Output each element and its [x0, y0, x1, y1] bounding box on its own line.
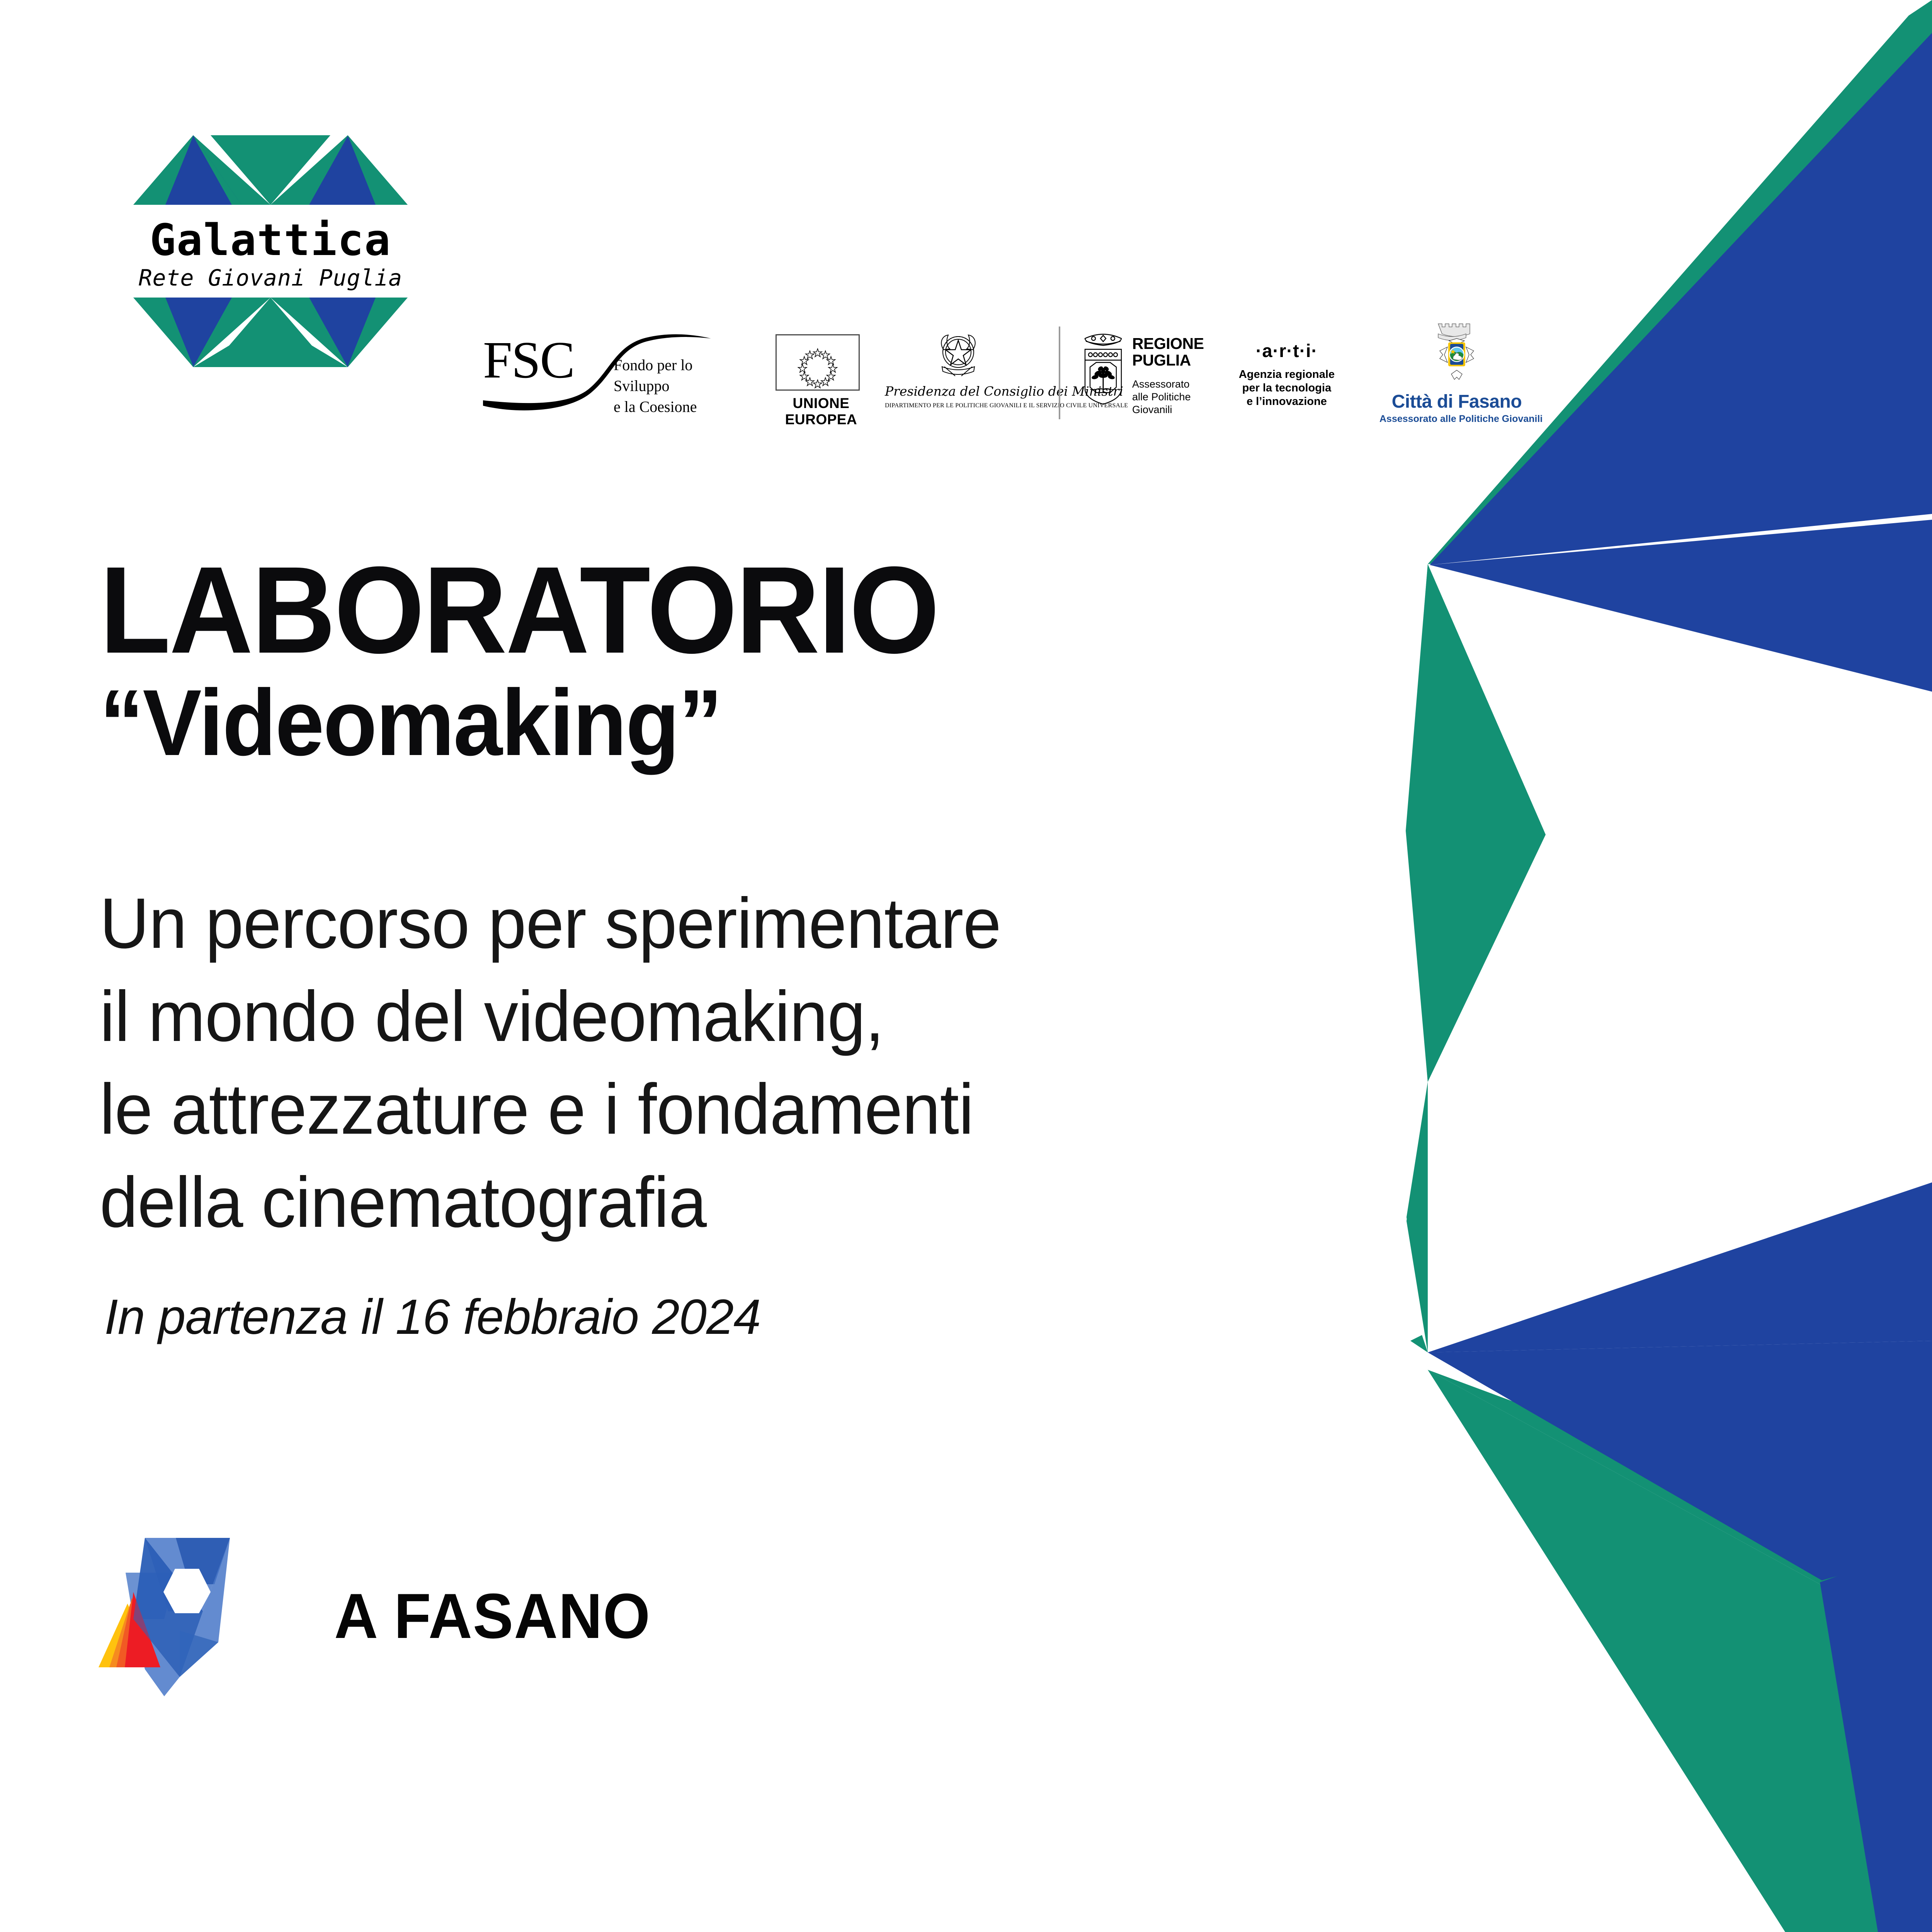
arti-sub-line3: e l’innovazione — [1229, 395, 1345, 408]
logo-european-union: UNIONE EUROPEA — [767, 334, 875, 419]
presidenza-title: Presidenza del Consiglio dei Ministri — [885, 384, 1032, 399]
arti-wordmark: ·a·r·t·i· — [1229, 340, 1345, 361]
fasano-hexagon-mark-icon — [87, 1515, 303, 1696]
start-date-text: In partenza il 16 febbraio 2024 — [104, 1289, 760, 1345]
description-block: Un percorso per sperimentare il mondo de… — [100, 877, 1213, 1249]
partner-logo-strip: Galattica Rete Giovani Puglia FSC Fondo … — [0, 116, 1546, 386]
galattica-tagline: Rete Giovani Puglia — [116, 267, 425, 289]
puglia-shield-icon — [1078, 328, 1128, 406]
regione-puglia-name-line2: PUGLIA — [1132, 352, 1204, 369]
logo-arti: ·a·r·t·i· Agenzia regionale per la tecno… — [1229, 340, 1345, 421]
republic-emblem-icon — [930, 327, 986, 383]
description-line-4: della cinematografia — [100, 1156, 1213, 1249]
headline-block: LABORATORIO “Videomaking” — [100, 553, 1336, 771]
regione-puglia-sub-line2: alle Politiche Giovanili — [1132, 391, 1206, 416]
logo-presidenza-consiglio: Presidenza del Consiglio dei Ministri DI… — [885, 327, 1032, 423]
logo-regione-puglia: REGIONE PUGLIA Assessorato alle Politich… — [1078, 328, 1206, 421]
eu-label: UNIONE EUROPEA — [767, 395, 875, 428]
description-line-3: le attrezzature e i fondamenti — [100, 1063, 1213, 1156]
description-line-2: il mondo del videomaking, — [100, 970, 1213, 1063]
headline-primary: LABORATORIO — [100, 553, 1262, 668]
description-line-1: Un percorso per sperimentare — [100, 877, 1213, 970]
fsc-subtitle-line1: Fondo per lo Sviluppo — [614, 355, 741, 396]
regione-puglia-name-line1: REGIONE — [1132, 335, 1204, 352]
brand-block: A FASANO — [87, 1515, 667, 1696]
regione-puglia-sub-line1: Assessorato — [1132, 378, 1206, 391]
eu-flag-icon — [776, 334, 860, 391]
citta-di-fasano-name: Città di Fasano — [1379, 391, 1534, 412]
fsc-subtitle-line2: e la Coesione — [614, 396, 741, 417]
arti-sub-line2: per la tecnologia — [1229, 381, 1345, 395]
headline-secondary: “Videomaking” — [100, 668, 1262, 771]
logo-galattica: Galattica Rete Giovani Puglia — [116, 128, 425, 375]
fasano-coat-of-arms-icon — [1429, 321, 1485, 390]
logo-citta-di-fasano: Città di Fasano Assessorato alle Politic… — [1379, 321, 1534, 425]
presidenza-department: DIPARTIMENTO PER LE POLITICHE GIOVANILI … — [885, 402, 1032, 409]
fsc-acronym: FSC — [483, 334, 574, 386]
regione-puglia-name: REGIONE PUGLIA — [1132, 335, 1204, 368]
galattica-wordmark: Galattica — [116, 219, 425, 262]
poster-canvas: Galattica Rete Giovani Puglia FSC Fondo … — [0, 0, 1932, 1932]
fsc-subtitle: Fondo per lo Sviluppo e la Coesione — [614, 355, 741, 417]
brand-label: A FASANO — [334, 1580, 651, 1653]
citta-di-fasano-subtitle: Assessorato alle Politiche Giovanili — [1379, 413, 1534, 425]
arti-sub-line1: Agenzia regionale — [1229, 368, 1345, 381]
arti-subtitle: Agenzia regionale per la tecnologia e l’… — [1229, 368, 1345, 408]
logo-divider — [1059, 327, 1060, 419]
regione-puglia-subtitle: Assessorato alle Politiche Giovanili — [1132, 378, 1206, 416]
logo-fsc: FSC Fondo per lo Sviluppo e la Coesione — [479, 325, 734, 417]
